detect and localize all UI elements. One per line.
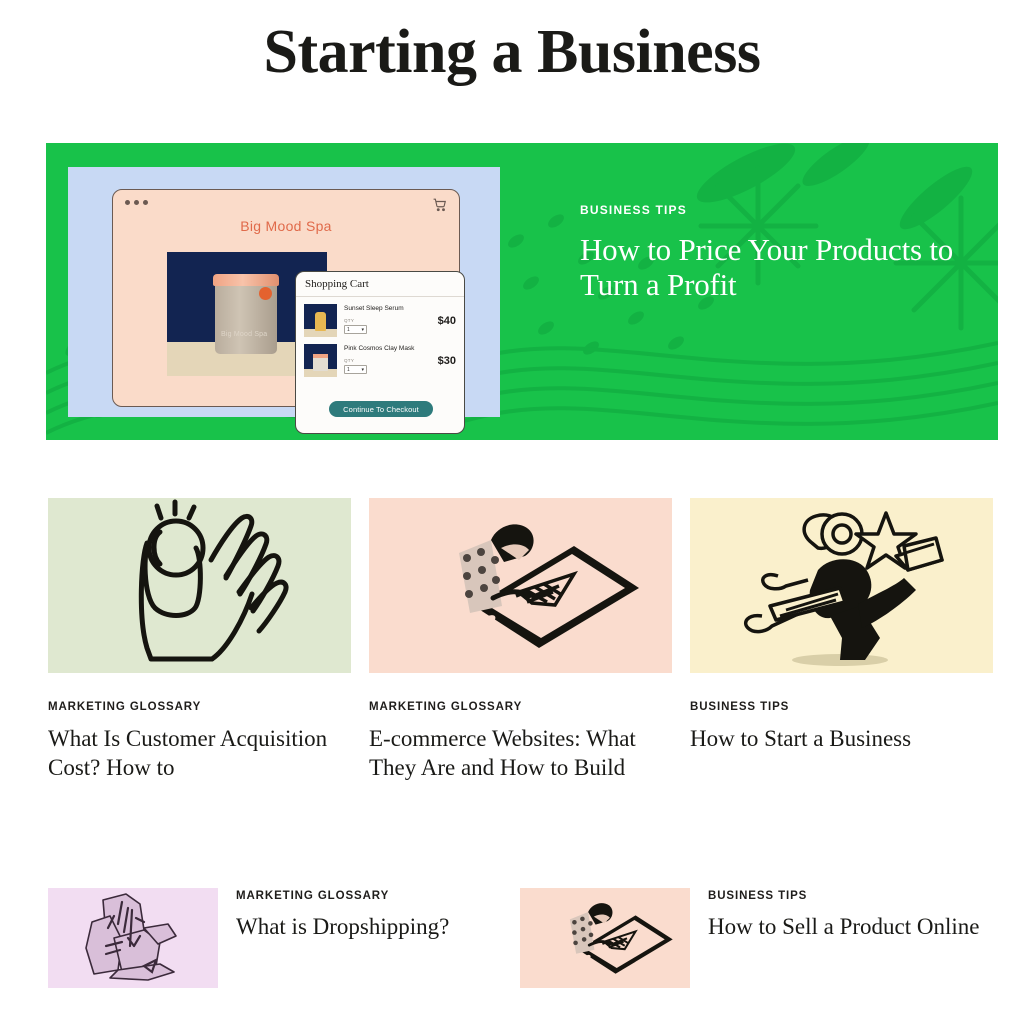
cart-item-qty-value: 1 [347, 327, 350, 333]
card-category-label: MARKETING GLOSSARY [48, 701, 351, 713]
cart-item-qty-label: QTY [344, 358, 434, 363]
hero-mockup-panel: Big Mood Spa Big Mood Spa Shopping Cart … [68, 167, 500, 417]
running-person-laptop-illustration [690, 498, 993, 673]
dropshipping-box-illustration [48, 888, 218, 988]
card-category-label: MARKETING GLOSSARY [369, 701, 672, 713]
secondary-article-list: MARKETING GLOSSARY What is Dropshipping? [48, 888, 992, 988]
woman-tablet-shopping-cart-illustration [520, 888, 690, 988]
article-card-grid: MARKETING GLOSSARY What Is Customer Acqu… [48, 498, 992, 783]
list-item-category-label: MARKETING GLOSSARY [236, 890, 449, 902]
hero-featured-article[interactable]: Big Mood Spa Big Mood Spa Shopping Cart … [46, 143, 998, 440]
article-card[interactable]: MARKETING GLOSSARY E-commerce Websites: … [369, 498, 672, 783]
cart-item-qty-select[interactable]: 1 ▾ [344, 325, 367, 334]
hero-category-label: BUSINESS TIPS [580, 203, 980, 217]
card-thumbnail [690, 498, 993, 673]
product-jar-label: Big Mood Spa [221, 330, 271, 340]
list-item-text: MARKETING GLOSSARY What is Dropshipping? [218, 888, 449, 942]
list-item-category-label: BUSINESS TIPS [708, 890, 980, 902]
card-thumbnail [48, 498, 351, 673]
chevron-down-icon: ▾ [361, 367, 364, 373]
shopping-cart-icon[interactable] [433, 198, 447, 212]
shopping-cart-heading: Shopping Cart [296, 272, 464, 297]
article-listing-page: Starting a Business [0, 0, 1024, 1012]
cart-item-price: $30 [434, 355, 456, 367]
cart-item-thumbnail [304, 344, 337, 377]
woman-tablet-shopping-cart-illustration [369, 498, 672, 673]
hero-article-title[interactable]: How to Price Your Products to Turn a Pro… [580, 233, 980, 302]
card-thumbnail [369, 498, 672, 673]
article-list-item[interactable]: BUSINESS TIPS How to Sell a Product Onli… [520, 888, 992, 988]
list-item-thumbnail [520, 888, 690, 988]
list-item-article-title[interactable]: How to Sell a Product Online [708, 912, 980, 942]
card-article-title[interactable]: E-commerce Websites: What They Are and H… [369, 724, 672, 783]
article-list-item[interactable]: MARKETING GLOSSARY What is Dropshipping? [48, 888, 520, 988]
cart-line-item: Pink Cosmos Clay Mask QTY 1 ▾ $30 [296, 337, 464, 377]
article-card[interactable]: BUSINESS TIPS How to Start a Business [690, 498, 993, 783]
list-item-thumbnail [48, 888, 218, 988]
card-category-label: BUSINESS TIPS [690, 701, 993, 713]
list-item-text: BUSINESS TIPS How to Sell a Product Onli… [690, 888, 980, 942]
card-article-title[interactable]: How to Start a Business [690, 724, 993, 753]
cart-item-qty-value: 1 [347, 367, 350, 373]
cart-item-thumbnail [304, 304, 337, 337]
cart-item-qty-select[interactable]: 1 ▾ [344, 365, 367, 374]
shopping-cart-panel: Shopping Cart Sunset Sleep Serum QTY 1 ▾… [295, 271, 465, 434]
article-card[interactable]: MARKETING GLOSSARY What Is Customer Acqu… [48, 498, 351, 783]
card-article-title[interactable]: What Is Customer Acquisition Cost? How t… [48, 724, 351, 783]
chevron-down-icon: ▾ [361, 327, 364, 333]
page-title: Starting a Business [0, 18, 1024, 86]
cart-item-name: Sunset Sleep Serum [344, 304, 434, 313]
cart-line-item: Sunset Sleep Serum QTY 1 ▾ $40 [296, 297, 464, 337]
cart-item-price: $40 [434, 315, 456, 327]
hand-holding-coin-illustration [48, 498, 351, 673]
window-dots-icon [125, 200, 148, 205]
cart-item-name: Pink Cosmos Clay Mask [344, 344, 434, 353]
list-item-article-title[interactable]: What is Dropshipping? [236, 912, 449, 942]
hero-text-block: BUSINESS TIPS How to Price Your Products… [580, 203, 980, 302]
cart-item-qty-label: QTY [344, 318, 434, 323]
continue-to-checkout-button[interactable]: Continue To Checkout [329, 401, 433, 417]
shop-name: Big Mood Spa [113, 218, 459, 234]
